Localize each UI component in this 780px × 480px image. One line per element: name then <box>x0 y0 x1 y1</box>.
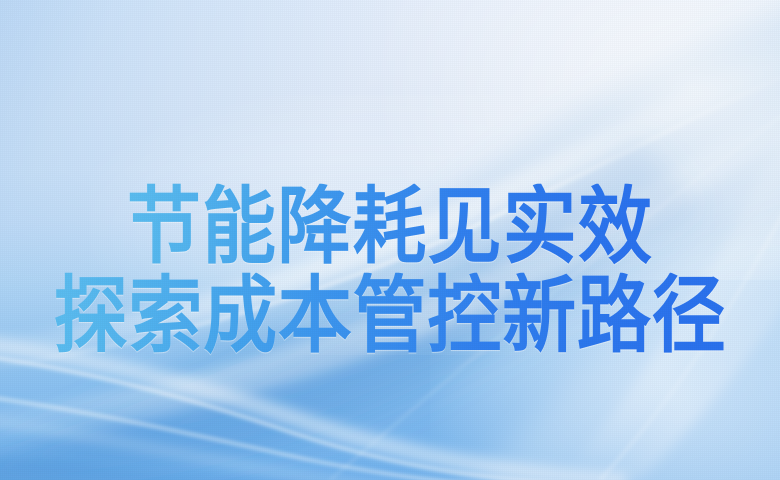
bottom-highlight-arc <box>0 392 560 480</box>
top-right-glow <box>380 0 780 280</box>
bottom-highlight-arc-2 <box>0 416 540 480</box>
diagonal-wash <box>0 0 780 480</box>
top-right-soft-band <box>470 96 780 480</box>
mid-crossing-ribbon-highlight <box>0 64 780 372</box>
ribbon-decoration <box>0 0 780 480</box>
paper-grain <box>0 0 780 480</box>
ribbon-crease-mid <box>330 110 780 480</box>
lower-left-ribbon-highlight <box>0 352 610 480</box>
mid-crossing-ribbon <box>0 52 780 360</box>
bottom-edge-shade <box>0 452 330 480</box>
lower-left-shade <box>0 140 700 480</box>
headline-line-1: 节能降耗见实效 <box>127 183 653 269</box>
headline-line-2: 探索成本管控新路径 <box>54 273 727 359</box>
lower-left-ribbon <box>0 340 620 480</box>
right-diagonal-ribbon <box>560 120 780 480</box>
ribbon-crease-right <box>600 200 780 480</box>
center-glow <box>90 95 710 355</box>
headline-block: 节能降耗见实效 探索成本管控新路径 <box>0 0 780 480</box>
banner-image: 节能降耗见实效 探索成本管控新路径 <box>0 0 780 480</box>
upper-sweeping-ribbon <box>0 0 780 480</box>
bottom-right-glow <box>430 230 780 480</box>
mid-crossing-ribbon-2 <box>0 96 780 430</box>
